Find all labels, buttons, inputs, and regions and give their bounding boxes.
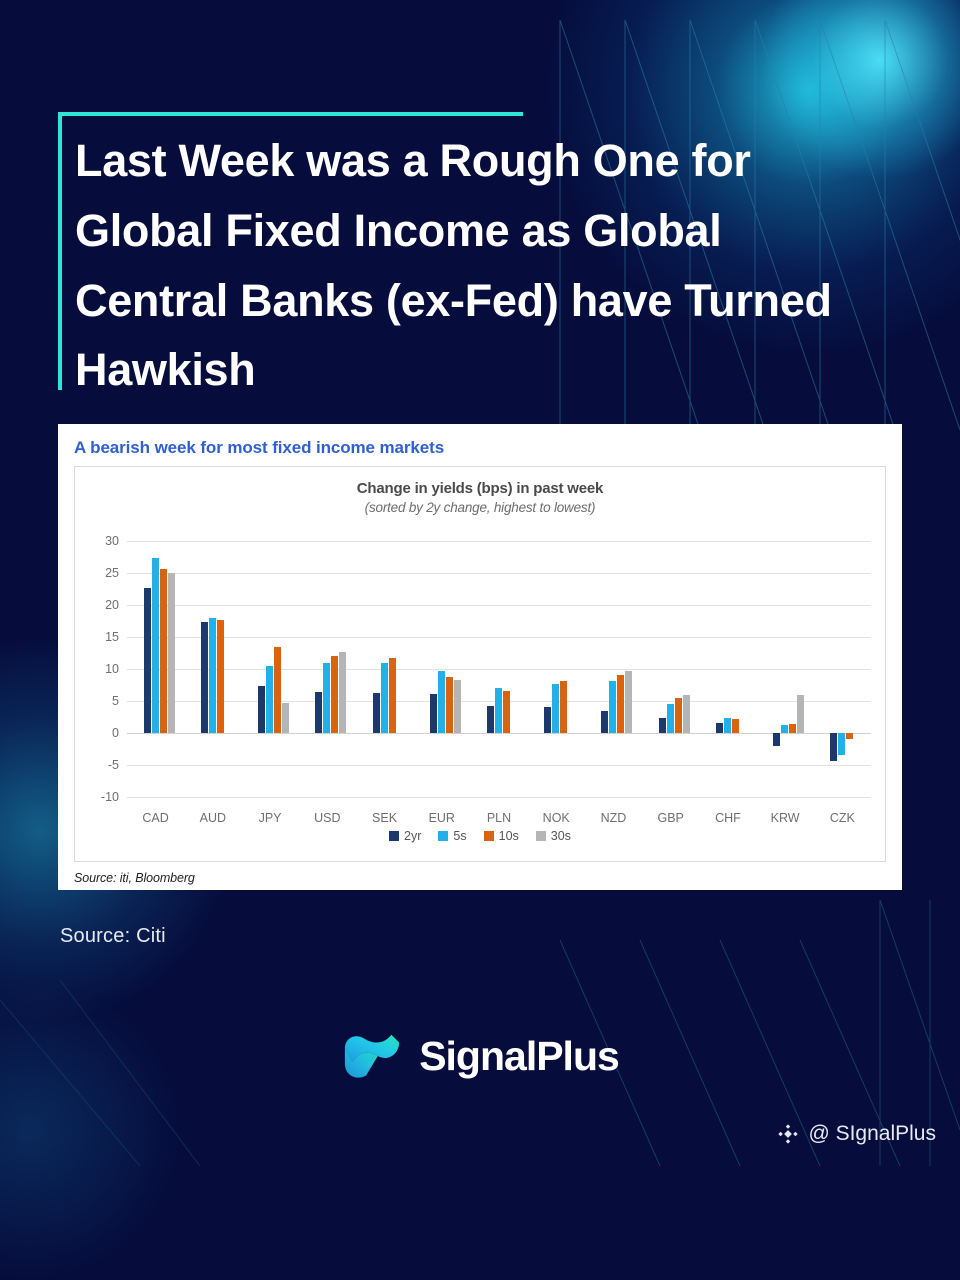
legend-label: 2yr [404, 829, 421, 843]
x-axis-tick-label: KRW [771, 811, 800, 825]
bar-USD-2yr [315, 692, 322, 733]
gridline: 15 [127, 637, 871, 638]
y-axis-tick-label: 5 [112, 694, 119, 708]
bar-KRW-2yr [773, 733, 780, 746]
bar-KRW-30s [797, 695, 804, 733]
x-axis-tick-label: PLN [487, 811, 511, 825]
bar-CAD-10s [160, 569, 167, 733]
bar-KRW-5s [781, 725, 788, 733]
y-axis-tick-label: 15 [105, 630, 119, 644]
chart-panel-title: A bearish week for most fixed income mar… [74, 438, 886, 458]
bar-NOK-10s [560, 681, 567, 733]
x-axis-tick-label: NOK [543, 811, 570, 825]
legend-item-30s: 30s [536, 829, 571, 843]
bar-JPY-5s [266, 666, 273, 733]
bar-AUD-10s [217, 620, 224, 733]
page-title: Last Week was a Rough One for Global Fix… [58, 112, 838, 405]
logo-wordmark: SignalPlus [419, 1033, 619, 1080]
signalplus-wave-logo [341, 1025, 403, 1087]
bar-CAD-2yr [144, 588, 151, 733]
bar-NZD-30s [625, 671, 632, 733]
gridline: 0 [127, 733, 871, 734]
bar-KRW-10s [789, 724, 796, 733]
bar-GBP-30s [683, 695, 690, 733]
chart-title: Change in yields (bps) in past week [75, 467, 885, 497]
bar-AUD-2yr [201, 622, 208, 733]
legend-swatch-10s [484, 831, 494, 841]
legend-label: 5s [453, 829, 466, 843]
x-axis-tick-label: JPY [259, 811, 282, 825]
bar-CHF-10s [732, 719, 739, 733]
y-axis-tick-label: 30 [105, 534, 119, 548]
bar-USD-5s [323, 663, 330, 733]
bar-EUR-30s [454, 680, 461, 733]
handle-text: @ SIgnalPlus [808, 1122, 936, 1146]
x-axis-tick-label: CHF [715, 811, 741, 825]
bar-EUR-5s [438, 671, 445, 733]
footer-logo: SignalPlus [0, 1025, 960, 1087]
bar-CZK-5s [838, 733, 845, 755]
bar-EUR-2yr [430, 694, 437, 733]
x-axis-tick-label: CAD [142, 811, 168, 825]
chart-subtitle: (sorted by 2y change, highest to lowest) [75, 497, 885, 515]
chart-source-note: Source: iti, Bloomberg [74, 862, 886, 885]
gridline: 30 [127, 541, 871, 542]
legend-swatch-2yr [389, 831, 399, 841]
x-axis-tick-label: AUD [200, 811, 226, 825]
bar-SEK-10s [389, 658, 396, 733]
headline-left-accent-bar [58, 112, 62, 390]
bar-USD-10s [331, 656, 338, 733]
y-axis-tick-label: -10 [101, 790, 119, 804]
gridline: 10 [127, 669, 871, 670]
bar-PLN-10s [503, 691, 510, 733]
bar-NOK-2yr [544, 707, 551, 733]
gridline: 25 [127, 573, 871, 574]
y-axis-tick-label: -5 [108, 758, 119, 772]
social-handle: @ SIgnalPlus [777, 1122, 936, 1146]
bar-JPY-30s [282, 703, 289, 733]
bar-PLN-2yr [487, 706, 494, 733]
source-attribution: Source: Citi [60, 925, 166, 948]
bar-GBP-10s [675, 698, 682, 733]
chart-legend: 2yr5s10s30s [75, 829, 885, 843]
bar-NZD-5s [609, 681, 616, 733]
bar-GBP-2yr [659, 718, 666, 733]
bar-CAD-5s [152, 558, 159, 733]
gridline: 20 [127, 605, 871, 606]
x-axis-tick-label: EUR [429, 811, 455, 825]
y-axis-tick-label: 10 [105, 662, 119, 676]
bar-PLN-5s [495, 688, 502, 733]
x-axis-tick-label: CZK [830, 811, 855, 825]
x-axis-tick-label: GBP [657, 811, 683, 825]
legend-item-2yr: 2yr [389, 829, 421, 843]
bar-CHF-5s [724, 718, 731, 733]
gridline: -10 [127, 797, 871, 798]
y-axis-tick-label: 0 [112, 726, 119, 740]
bar-USD-30s [339, 652, 346, 733]
y-axis-tick-label: 20 [105, 598, 119, 612]
x-axis-tick-label: USD [314, 811, 340, 825]
bar-CAD-30s [168, 573, 175, 733]
bar-GBP-5s [667, 704, 674, 733]
bar-NZD-10s [617, 675, 624, 733]
y-axis-tick-label: 25 [105, 566, 119, 580]
chart-panel: A bearish week for most fixed income mar… [58, 424, 902, 890]
legend-label: 30s [551, 829, 571, 843]
x-axis-tick-label: SEK [372, 811, 397, 825]
binance-diamond-icon [777, 1123, 799, 1145]
bar-JPY-2yr [258, 686, 265, 733]
legend-label: 10s [499, 829, 519, 843]
plot-wrapper: 302520151050-5-10CADAUDJPYUSDSEKEURPLNNO… [75, 529, 885, 861]
legend-swatch-30s [536, 831, 546, 841]
bar-SEK-5s [381, 663, 388, 733]
legend-item-5s: 5s [438, 829, 466, 843]
plot-area: 302520151050-5-10CADAUDJPYUSDSEKEURPLNNO… [127, 541, 871, 797]
x-axis-tick-label: NZD [601, 811, 627, 825]
bar-NOK-5s [552, 684, 559, 733]
bar-SEK-2yr [373, 693, 380, 733]
bar-EUR-10s [446, 677, 453, 733]
legend-item-10s: 10s [484, 829, 519, 843]
chart-frame: Change in yields (bps) in past week (sor… [74, 466, 886, 862]
bar-CZK-10s [846, 733, 853, 739]
bar-JPY-10s [274, 647, 281, 733]
headline-block: Last Week was a Rough One for Global Fix… [58, 112, 838, 405]
headline-top-rule [58, 112, 523, 116]
legend-swatch-5s [438, 831, 448, 841]
bar-NZD-2yr [601, 711, 608, 733]
gridline: -5 [127, 765, 871, 766]
bar-AUD-5s [209, 618, 216, 733]
bar-CZK-2yr [830, 733, 837, 761]
bar-CHF-2yr [716, 723, 723, 733]
